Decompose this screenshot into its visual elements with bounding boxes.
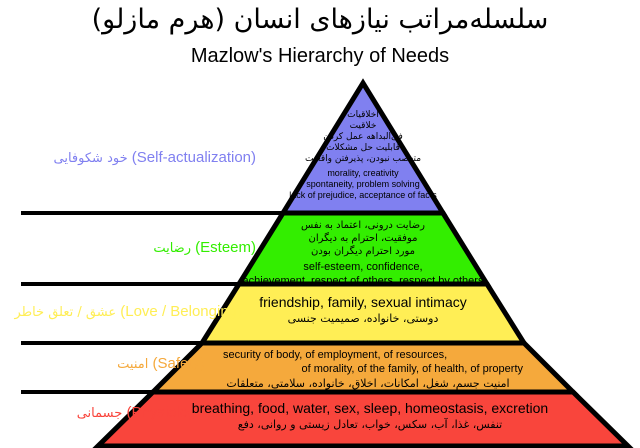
tier-label-safety: امنیت (Safety) (14, 355, 205, 372)
tier-label-love-belonging: عشق / تعلق خاطر (Love / Belonging) (14, 303, 242, 320)
tier-label-fa-love-belonging: عشق / تعلق خاطر (15, 305, 117, 320)
diagram-canvas: سلسله‌مراتب نیازهای انسان (هرم مازلو) Ma… (0, 0, 640, 448)
tier-label-en-love-belonging: (Love / Belonging) (120, 303, 242, 320)
tier-shape-self-actualization (283, 83, 443, 213)
tier-label-en-esteem: (Esteem) (195, 239, 256, 256)
tier-label-en-safety: (Safety) (152, 355, 205, 372)
maslow-pyramid (0, 0, 640, 448)
tier-shape-safety (153, 343, 573, 392)
tier-label-fa-esteem: رضایت (153, 241, 191, 256)
tier-label-esteem: رضایت (Esteem) (20, 239, 256, 256)
tier-label-fa-self-actualization: خود شکوفایی (54, 151, 128, 166)
tier-shape-love-belonging (202, 284, 524, 343)
tier-label-self-actualization: خود شکوفایی (Self-actualization) (20, 149, 256, 166)
tier-label-en-self-actualization: (Self-actualization) (132, 149, 256, 166)
tier-label-physiological: جسمانی (Physiological) (10, 404, 224, 421)
tier-label-fa-physiological: جسمانی (77, 406, 123, 421)
tier-label-fa-safety: امنیت (117, 357, 148, 372)
tier-label-en-physiological: (Physiological) (126, 404, 224, 421)
tier-shape-esteem (239, 213, 487, 284)
